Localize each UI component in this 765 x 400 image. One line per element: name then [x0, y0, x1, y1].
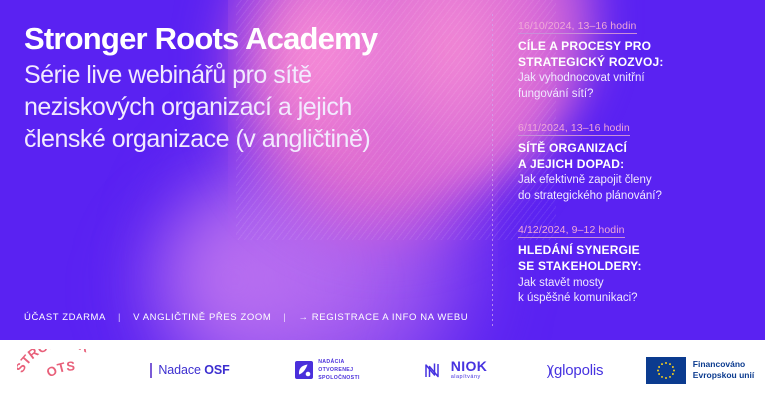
eu-funding-text: Financováno Evropskou unií: [693, 359, 754, 382]
event-heading-line-1: HLEDÁNÍ SYNERGIE: [518, 243, 754, 259]
nos-mark: NADÁCIA OTVORENEJ SPOLOČNOSTI: [295, 358, 360, 382]
event-item[interactable]: 4/12/2024, 9–12 hodin HLEDÁNÍ SYNERGIE S…: [518, 220, 754, 306]
event-heading-line-1: SÍTĚ ORGANIZACÍ: [518, 141, 754, 157]
eu-funding-line-1: Financováno: [693, 359, 754, 370]
niok-subtitle: alapítvány: [451, 375, 488, 381]
events-list: 16/10/2024, 13–16 hodin CÍLE A PROCESY P…: [518, 16, 754, 307]
event-date: 6/11/2024, 13–16 hodin: [518, 122, 630, 136]
niok-mark: NIOK alapítvány: [423, 359, 488, 381]
event-question-line-1: Jak efektivně zapojit členy: [518, 173, 754, 189]
nadace-osf-regular: Nadace: [158, 363, 204, 377]
logo-eu-funding: Financováno Evropskou unií: [635, 340, 765, 400]
page-title: Stronger Roots Academy: [24, 22, 474, 57]
glopolis-bracket-icon: )(: [547, 362, 552, 378]
nos-line-2: OTVORENEJ: [318, 366, 360, 374]
event-heading: HLEDÁNÍ SYNERGIE SE STAKEHOLDERY:: [518, 243, 754, 274]
eu-flag-icon: [646, 357, 686, 384]
event-heading: SÍTĚ ORGANIZACÍ A JEJICH DOPAD:: [518, 141, 754, 172]
event-question: Jak efektivně zapojit členy do strategic…: [518, 173, 754, 204]
info-item-language: V ANGLIČTINĚ PŘES ZOOM: [133, 312, 271, 323]
hero-subtitle-line-2: neziskových organizací a jejich: [24, 91, 474, 123]
logo-stronger-roots: STRONGER OTS: [0, 340, 120, 400]
stronger-roots-icon: STRONGER OTS: [17, 349, 103, 391]
hero-subtitle-line-3: členské organizace (v angličtině): [24, 123, 474, 155]
event-heading-line-2: SE STAKEHOLDERY:: [518, 259, 754, 275]
info-strip: ÚČAST ZDARMA | V ANGLIČTINĚ PŘES ZOOM | …: [24, 312, 468, 323]
event-item[interactable]: 16/10/2024, 13–16 hodin CÍLE A PROCESY P…: [518, 16, 754, 102]
glopolis-mark: )( glopolis: [547, 362, 604, 379]
event-heading-line-1: CÍLE A PROCESY PRO: [518, 39, 754, 55]
event-question-line-2: k úspěšné komunikaci?: [518, 291, 754, 307]
hero-stage: Stronger Roots Academy Série live webiná…: [0, 0, 765, 340]
nadace-osf-bar-icon: [150, 363, 152, 378]
event-question: Jak vyhodnocovat vnitřní fungování sítí?: [518, 71, 754, 102]
niok-text: NIOK alapítvány: [451, 359, 488, 381]
info-item-free-entry: ÚČAST ZDARMA: [24, 312, 106, 323]
event-item[interactable]: 6/11/2024, 13–16 hodin SÍTĚ ORGANIZACÍ A…: [518, 118, 754, 204]
hero-text-block: Stronger Roots Academy Série live webiná…: [24, 22, 474, 155]
info-item-registration-link[interactable]: → REGISTRACE A INFO NA WEBU: [298, 312, 468, 323]
event-heading: CÍLE A PROCESY PRO STRATEGICKÝ ROZVOJ:: [518, 39, 754, 70]
poster-root: Stronger Roots Academy Série live webiná…: [0, 0, 765, 400]
niok-title: NIOK: [451, 359, 488, 373]
svg-text:OTS: OTS: [44, 358, 76, 380]
nadace-osf-text: Nadace OSF: [158, 363, 229, 377]
event-heading-line-2: A JEJICH DOPAD:: [518, 157, 754, 173]
logo-nadace-osf: Nadace OSF: [120, 340, 260, 400]
nos-line-1: NADÁCIA: [318, 358, 360, 366]
event-question-line-2: fungování sítí?: [518, 87, 754, 103]
event-question: Jak stavět mosty k úspěšné komunikaci?: [518, 276, 754, 307]
nadace-osf-bold: OSF: [204, 363, 229, 377]
info-separator-2: |: [283, 312, 286, 323]
logo-nadacia-otvorenej-spolocnosti: NADÁCIA OTVORENEJ SPOLOČNOSTI: [260, 340, 395, 400]
hero-subtitle: Série live webinářů pro sítě neziskových…: [24, 59, 474, 155]
event-date: 16/10/2024, 13–16 hodin: [518, 20, 637, 34]
vertical-dotted-divider: [492, 14, 493, 326]
glopolis-text: glopolis: [554, 362, 603, 379]
event-heading-line-2: STRATEGICKÝ ROZVOJ:: [518, 55, 754, 71]
niok-n-icon: [423, 359, 445, 381]
nos-text: NADÁCIA OTVORENEJ SPOLOČNOSTI: [318, 358, 360, 382]
event-question-line-1: Jak vyhodnocovat vnitřní: [518, 71, 754, 87]
logo-glopolis: )( glopolis: [515, 340, 635, 400]
nos-line-3: SPOLOČNOSTI: [318, 374, 360, 382]
stronger-roots-mark: STRONGER OTS: [17, 349, 103, 391]
nadace-osf-mark: Nadace OSF: [150, 363, 229, 378]
event-question-line-2: do strategického plánování?: [518, 189, 754, 205]
nos-swirl-icon: [295, 361, 313, 379]
footer-logo-bar: STRONGER OTS Nadace OSF: [0, 340, 765, 400]
eu-stars-icon: [646, 357, 686, 384]
hero-subtitle-line-1: Série live webinářů pro sítě: [24, 59, 474, 91]
event-date: 4/12/2024, 9–12 hodin: [518, 224, 625, 238]
logo-niok: NIOK alapítvány: [395, 340, 515, 400]
event-question-line-1: Jak stavět mosty: [518, 276, 754, 292]
eu-funding-mark: Financováno Evropskou unií: [646, 357, 754, 384]
eu-funding-line-2: Evropskou unií: [693, 370, 754, 381]
info-separator-1: |: [118, 312, 121, 323]
